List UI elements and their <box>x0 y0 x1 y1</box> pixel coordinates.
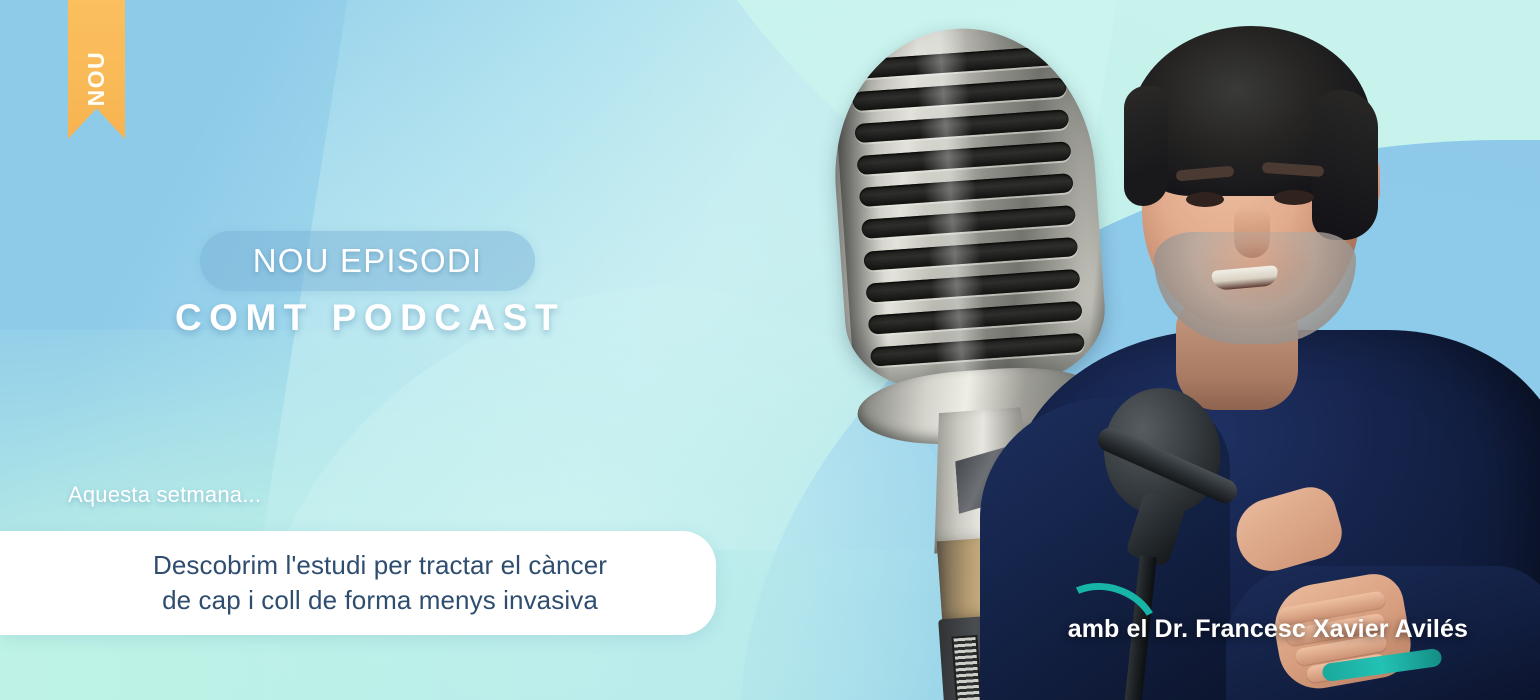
guest-hair-right <box>1312 90 1378 240</box>
new-ribbon-label: NOU <box>85 33 108 106</box>
episode-topic-card: Descobrim l'estudi per tractar el càncer… <box>0 531 716 635</box>
new-episode-badge-label: NOU EPISODI <box>253 242 483 280</box>
guest-eye-left <box>1186 192 1224 207</box>
podcast-scene-photo <box>760 0 1540 700</box>
boom-microphone-icon <box>1090 388 1330 700</box>
episode-topic-line-2: de cap i coll de forma menys invasiva <box>162 583 598 618</box>
guest-hair-left <box>1124 86 1168 206</box>
podcast-promo-banner: NOU NOU EPISODI COMT PODCAST Aquesta set… <box>0 0 1540 700</box>
kicker-text: Aquesta setmana... <box>68 482 261 508</box>
guest-eye-right <box>1274 190 1314 205</box>
guest-credit-text: amb el Dr. Francesc Xavier Avilés <box>1068 615 1468 644</box>
new-episode-badge: NOU EPISODI <box>200 231 535 291</box>
episode-topic-line-1: Descobrim l'estudi per tractar el càncer <box>153 548 607 583</box>
show-title: COMT PODCAST <box>160 297 580 339</box>
